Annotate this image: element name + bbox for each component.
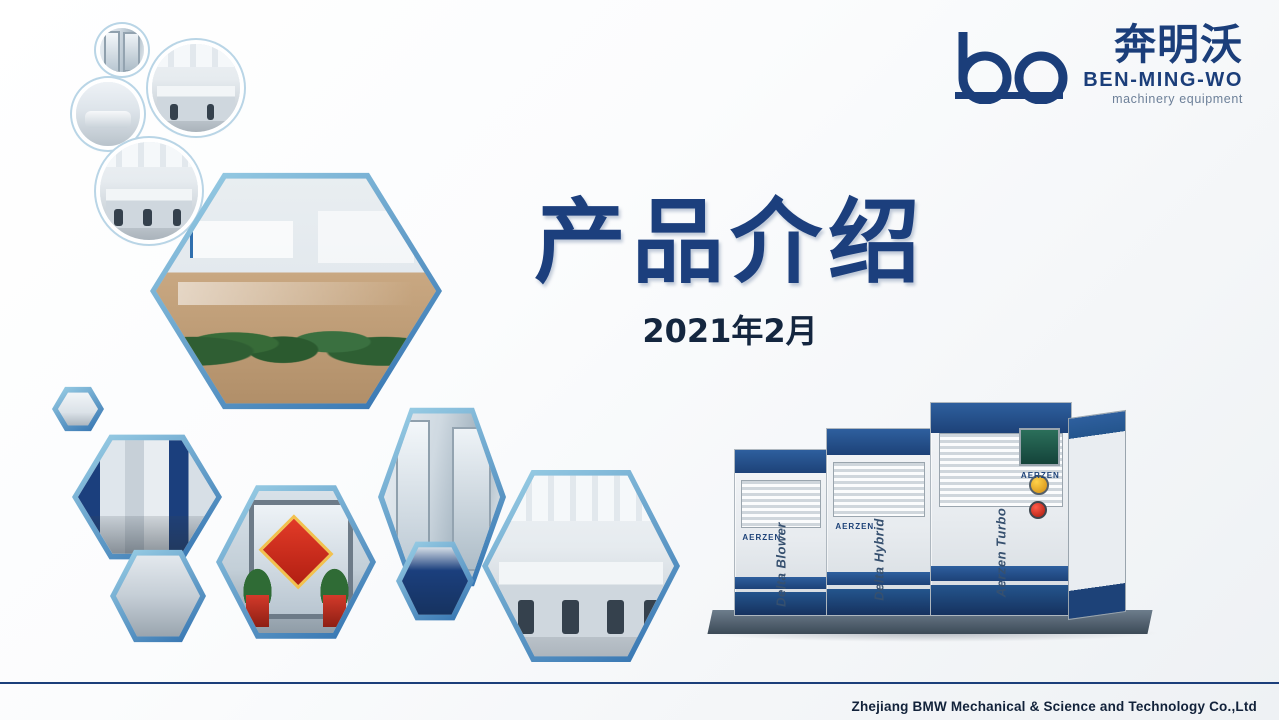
photo-hex-small-office-room (52, 386, 104, 432)
logo-tagline: machinery equipment (1112, 93, 1243, 106)
machine-brand-label: AERZEN (835, 522, 874, 531)
photo-hex-office-corridor-blue (72, 432, 222, 562)
page-title: 产品介绍 (470, 168, 990, 301)
photo-hex-open-plan-office (482, 466, 680, 666)
machine-unit-aerzen-turbo: AERZEN Aerzen Turbo (930, 402, 1072, 616)
logo-chinese-name: 奔明沃 (1114, 24, 1243, 66)
photo-circle-elevator-lobby (100, 28, 144, 72)
photo-hex-white-corridor (110, 548, 206, 644)
photo-circle-staff-working-area (100, 142, 198, 240)
photo-hex-entrance-glass-door-lantern (216, 482, 376, 642)
slide-canvas: 奔明沃 BEN-MING-WO machinery equipment 产品介绍… (0, 0, 1279, 720)
machine-brand-label: AERZEN (1021, 471, 1060, 480)
logo-english-name: BEN-MING-WO (1083, 70, 1243, 90)
footer-divider (0, 682, 1279, 684)
product-machines-image: AERZEN Delta Blower AERZEN Delta Hybrid … (700, 392, 1170, 642)
machine-unit-delta-hybrid: AERZEN Delta Hybrid (826, 428, 932, 616)
machine-emergency-stop-icon (1029, 501, 1047, 519)
machine-unit-label: Delta Hybrid (872, 518, 887, 601)
footer-company-name: Zhejiang BMW Mechanical & Science and Te… (852, 699, 1258, 714)
machine-side-enclosure (1068, 410, 1126, 620)
machine-unit-label: Aerzen Turbo (994, 508, 1009, 598)
bo-monogram-icon (945, 26, 1073, 104)
machine-unit-delta-blower: AERZEN Delta Blower (734, 449, 828, 616)
company-logo: 奔明沃 BEN-MING-WO machinery equipment (945, 24, 1243, 106)
machine-unit-label: Delta Blower (774, 522, 789, 607)
photo-circle-workstation-desks (152, 44, 240, 132)
machine-hmi-screen (1019, 428, 1059, 466)
photo-circle-reception-counter (76, 82, 140, 146)
page-subtitle: 2021年2月 (470, 306, 990, 352)
